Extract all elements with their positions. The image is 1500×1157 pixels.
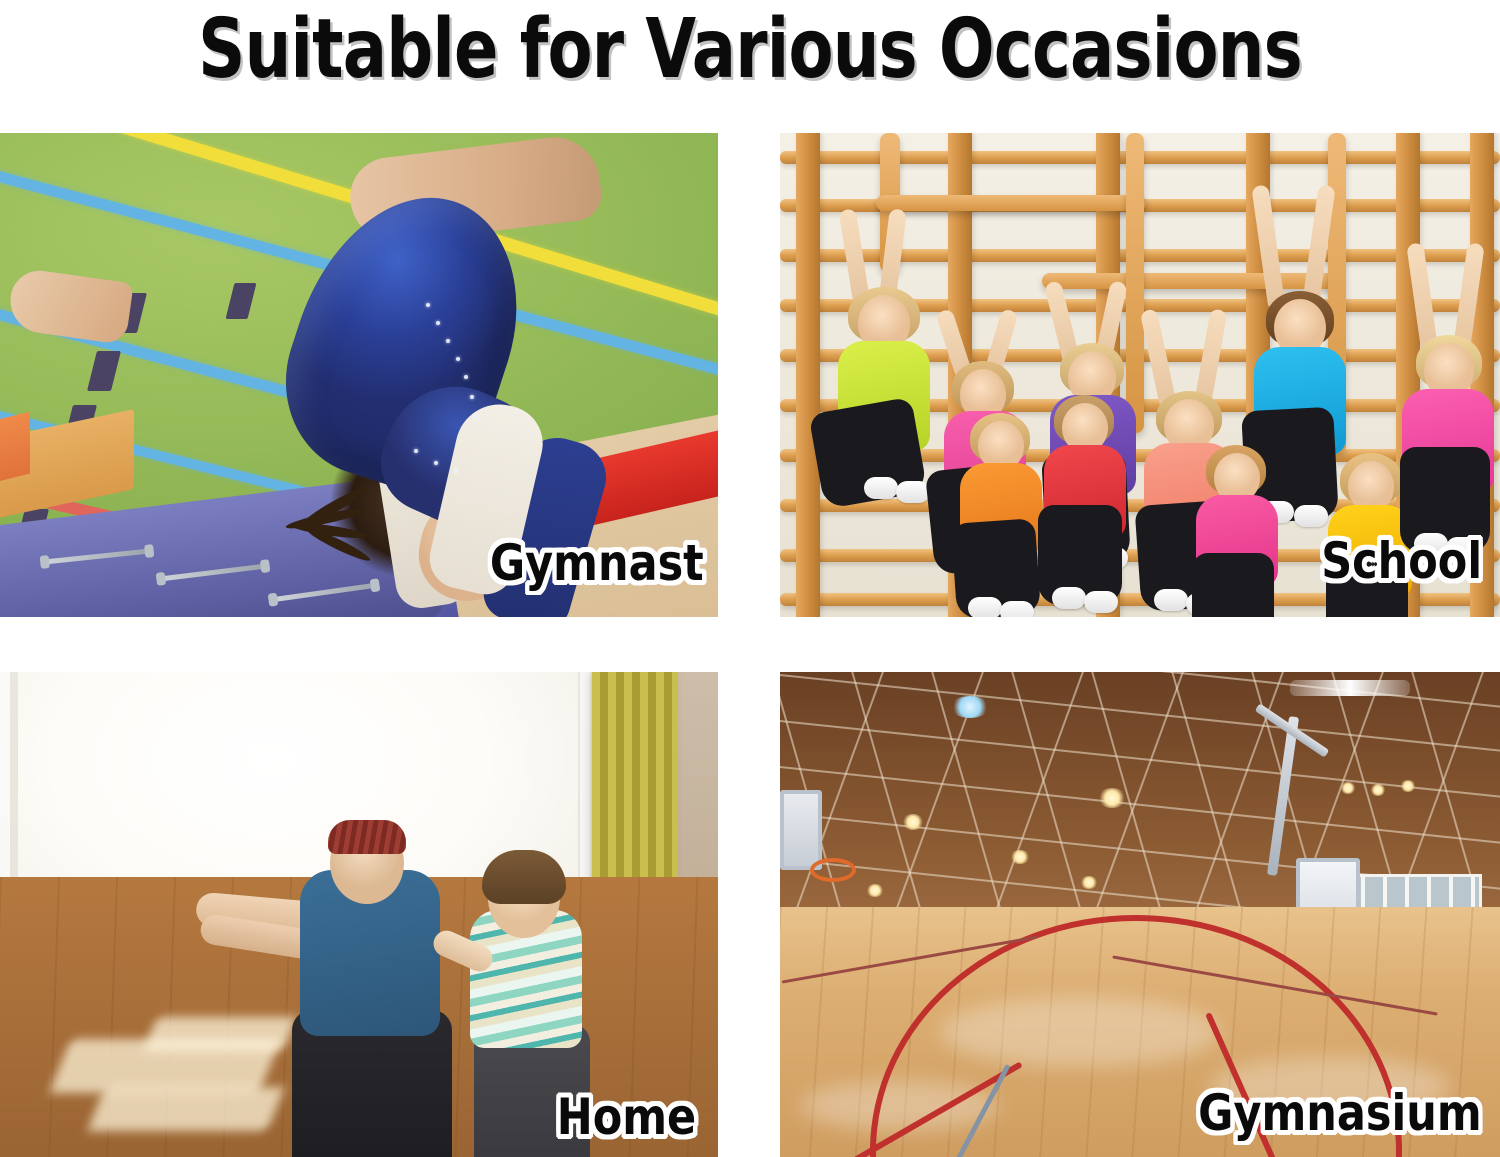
caption-gymnast: Gymnast (490, 537, 704, 589)
ceiling-light-5 (1080, 876, 1098, 889)
man-headband (328, 820, 406, 854)
ceiling-light-3 (902, 814, 924, 830)
basketball-hoop-left (810, 858, 856, 882)
student-shoe-1 (968, 597, 1002, 617)
sunlight-patch-3 (143, 1017, 297, 1051)
ceiling-light-9 (1340, 782, 1356, 794)
panel-home[interactable]: Home (0, 672, 718, 1157)
boy-hair (482, 850, 566, 904)
ceiling-light-6 (866, 884, 884, 897)
student-shoe-2 (1000, 601, 1034, 617)
ceiling-light-2 (1098, 788, 1126, 808)
student-pink-c (1384, 265, 1500, 555)
caption-gymnasium: Gymnasium (1198, 1087, 1482, 1139)
page-title: Suitable for Various Occasions (150, 2, 1350, 102)
gymnast-figure (150, 153, 620, 573)
panel-gymnast[interactable]: Gymnast (0, 133, 718, 617)
sunlight-patch-2 (87, 1087, 285, 1131)
basketball-backboard-left (780, 790, 822, 870)
student-shoe-1 (864, 477, 898, 499)
caption-home: Home (556, 1091, 696, 1143)
ceiling-strip-light (1290, 680, 1410, 696)
student-legs (1192, 553, 1274, 617)
caption-school: School (1321, 535, 1482, 587)
student-shoe-2 (896, 481, 930, 503)
ceiling-light-10 (1370, 784, 1386, 796)
ceiling-light-11 (1400, 780, 1416, 792)
student-shoe-2 (1084, 591, 1118, 613)
collage-page: Suitable for Various Occasions (0, 0, 1500, 1157)
student-pink-b (1180, 405, 1300, 617)
ceiling-light-1 (950, 696, 990, 718)
student-shoe-1 (1052, 587, 1086, 609)
panel-gymnasium[interactable]: Gymnasium (780, 672, 1500, 1157)
ceiling-light-4 (1010, 850, 1030, 864)
panel-school[interactable]: School (780, 133, 1500, 617)
